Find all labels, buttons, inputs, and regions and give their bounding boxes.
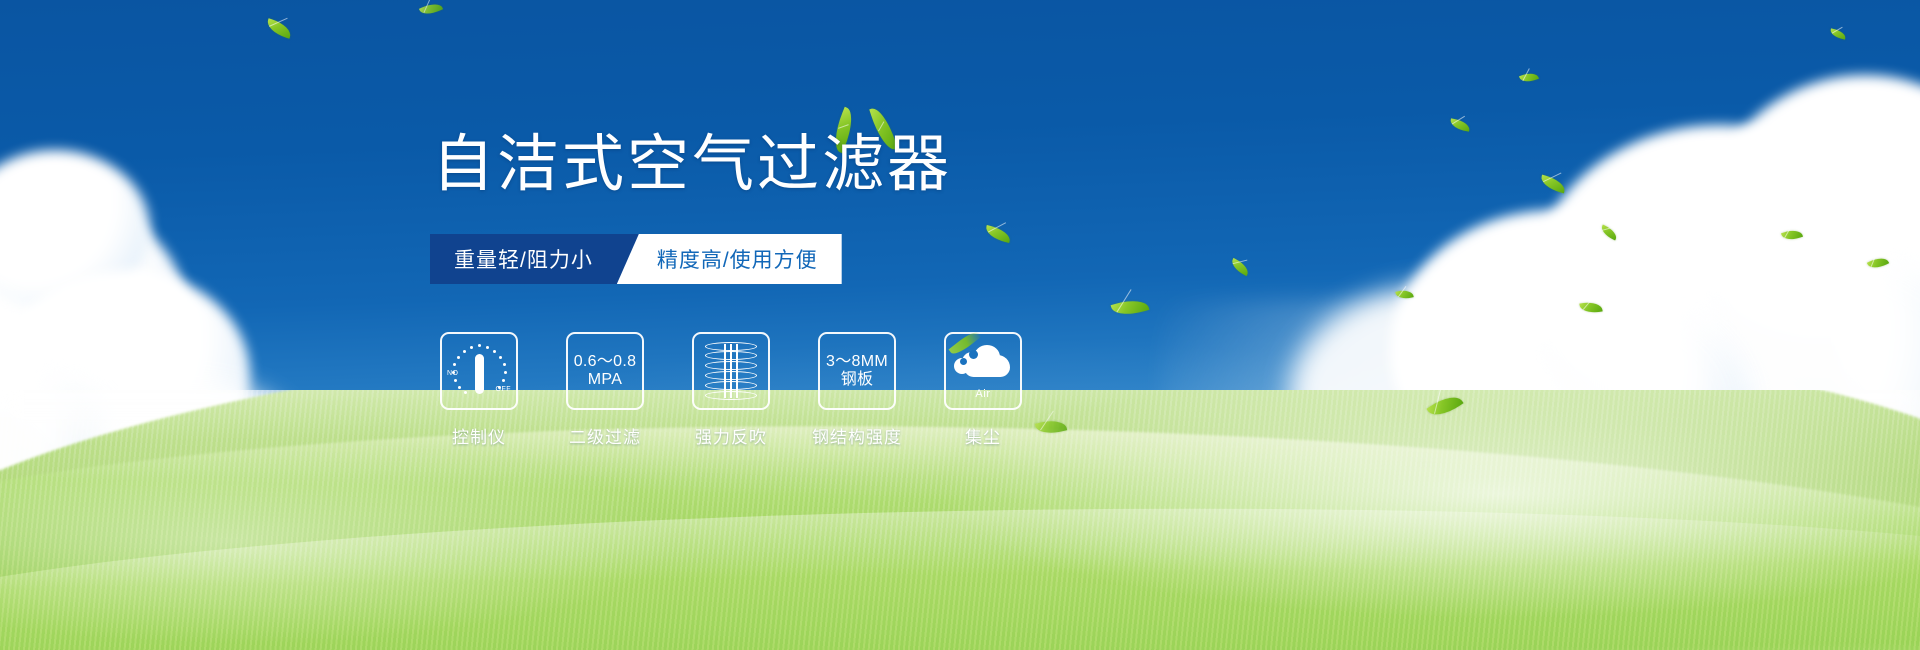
feature-item-backblow[interactable]: 强力反吹: [692, 332, 770, 448]
filter-stack-icon: [705, 342, 757, 400]
feature-icon-box: [692, 332, 770, 410]
gauge-on-label: NO: [447, 370, 459, 377]
feature-caption: 钢结构强度: [812, 423, 902, 448]
feature-icon-box: NO OFF: [440, 332, 518, 410]
feature-item-steel-strength[interactable]: 3～8MM 钢板 钢结构强度: [818, 332, 896, 448]
feature-item-two-stage-filter[interactable]: 0.6～0.8 MPA 二级过滤: [566, 332, 644, 448]
feature-caption: 强力反吹: [695, 423, 767, 448]
feature-item-controller[interactable]: NO OFF 控制仪: [440, 332, 518, 448]
feature-item-dust-collection[interactable]: Air 集尘: [944, 332, 1022, 448]
product-banner: 自洁式空气过滤器 重量轻/阻力小 精度高/使用方便: [0, 0, 1920, 650]
pressure-value-line1: 0.6～0.8: [574, 353, 637, 371]
feature-tag-secondary: 精度高/使用方便: [617, 234, 842, 284]
feature-caption: 二级过滤: [569, 423, 641, 448]
steel-value-line1: 3～8MM: [826, 353, 888, 371]
feature-tag-primary-label: 重量轻/阻力小: [454, 244, 593, 274]
feature-icon-box: 0.6～0.8 MPA: [566, 332, 644, 410]
steel-value-line2: 钢板: [841, 371, 874, 389]
pressure-value-line2: MPA: [588, 371, 622, 389]
feature-tag-group: 重量轻/阻力小 精度高/使用方便: [430, 234, 842, 284]
feature-icon-box: 3～8MM 钢板: [818, 332, 896, 410]
feature-tag-primary: 重量轻/阻力小: [430, 234, 639, 284]
feature-tag-secondary-label: 精度高/使用方便: [657, 244, 818, 274]
gauge-off-label: OFF: [496, 386, 512, 393]
feature-icon-box: Air: [944, 332, 1022, 410]
air-cloud-icon: [952, 343, 1014, 387]
feature-caption: 集尘: [965, 423, 1001, 448]
air-label: Air: [975, 388, 990, 400]
page-title: 自洁式空气过滤器: [432, 134, 952, 196]
gauge-icon: NO OFF: [448, 342, 510, 400]
feature-icon-row: NO OFF 控制仪 0.6～0.8 MPA 二级过滤: [440, 332, 1022, 448]
feature-caption: 控制仪: [452, 423, 506, 448]
